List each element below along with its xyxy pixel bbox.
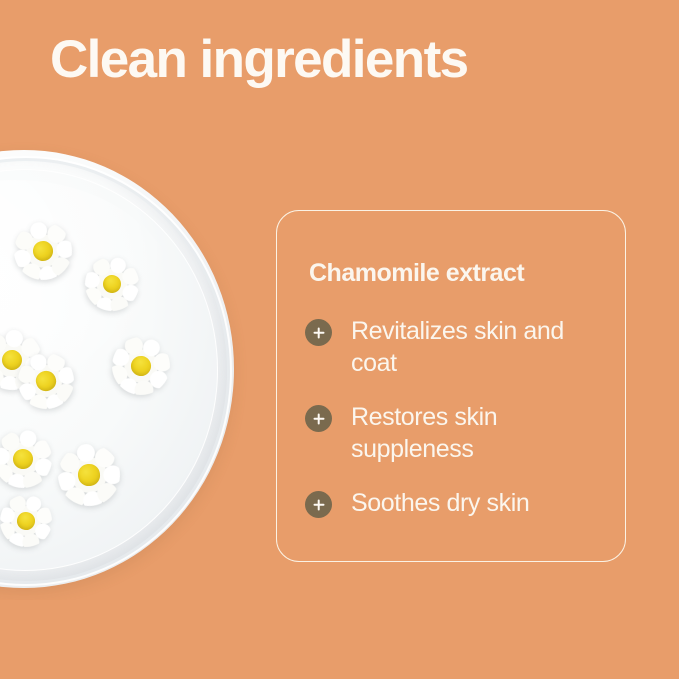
page-title: Clean ingredients bbox=[50, 28, 650, 92]
benefit-text: Revitalizes skin and coat bbox=[351, 315, 601, 379]
benefit-item: Revitalizes skin and coat bbox=[305, 315, 609, 379]
flower-center bbox=[128, 353, 155, 380]
flower-center bbox=[1, 349, 23, 371]
flower-center bbox=[77, 463, 101, 487]
ingredient-card: Chamomile extract Revitalizes skin and c… bbox=[276, 210, 626, 562]
chamomile-flower bbox=[101, 326, 180, 405]
plus-icon bbox=[305, 491, 332, 518]
flower-center bbox=[34, 369, 59, 394]
chamomile-flower bbox=[78, 250, 146, 318]
benefit-list: Revitalizes skin and coatRestores skin s… bbox=[305, 315, 609, 519]
benefit-item: Restores skin suppleness bbox=[305, 401, 609, 465]
plus-icon bbox=[305, 319, 332, 346]
flower-center bbox=[14, 509, 37, 532]
benefit-text: Restores skin suppleness bbox=[351, 401, 601, 465]
chamomile-flower bbox=[0, 327, 45, 393]
flower-center bbox=[31, 239, 54, 262]
flower-petals bbox=[0, 424, 58, 494]
flower-petals bbox=[0, 327, 45, 393]
chamomile-flower bbox=[9, 217, 78, 286]
plate-inner-surface bbox=[0, 169, 218, 571]
plate-rim-highlight bbox=[0, 156, 232, 586]
benefit-text: Soothes dry skin bbox=[351, 487, 529, 519]
flower-petals bbox=[9, 217, 78, 286]
flower-petals bbox=[101, 326, 180, 405]
flower-petals bbox=[0, 487, 60, 556]
chamomile-flower bbox=[10, 345, 83, 418]
plate-outer-rim bbox=[0, 150, 234, 588]
flower-petals bbox=[10, 345, 83, 418]
chamomile-flower bbox=[0, 487, 60, 556]
flower-center bbox=[11, 447, 35, 471]
flower-center bbox=[100, 272, 123, 295]
chamomile-flower bbox=[0, 424, 58, 494]
flower-petals bbox=[78, 250, 146, 318]
plus-icon bbox=[305, 405, 332, 432]
card-title: Chamomile extract bbox=[309, 259, 524, 287]
chamomile-flower bbox=[54, 440, 124, 510]
chamomile-plate-photo bbox=[0, 140, 250, 600]
flower-petals bbox=[54, 440, 124, 510]
benefit-item: Soothes dry skin bbox=[305, 487, 609, 519]
plate-light-sheen bbox=[0, 180, 180, 430]
marketing-banner: Clean ingredients Chamomile extract Revi… bbox=[0, 0, 679, 679]
